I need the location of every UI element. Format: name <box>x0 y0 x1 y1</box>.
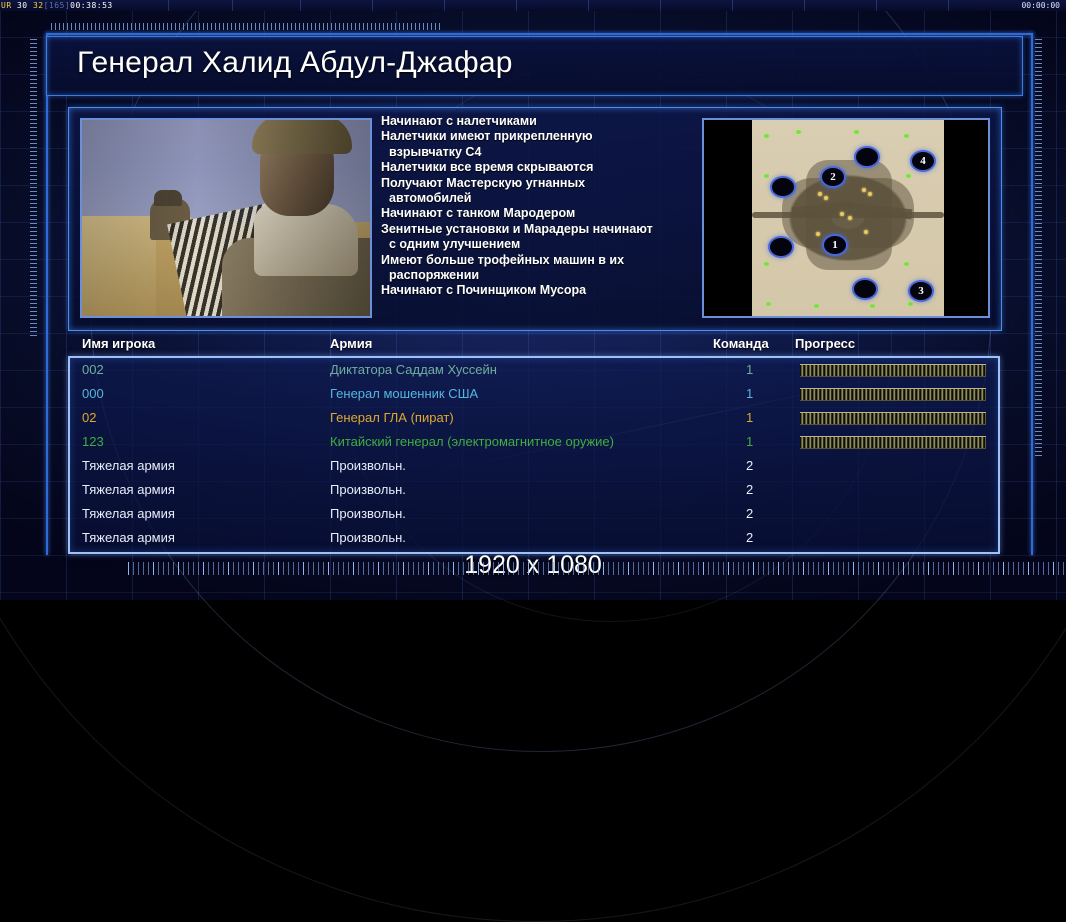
ability-line: Имеют больше трофейных машин в их <box>381 253 699 268</box>
ability-line: с одним улучшением <box>381 237 699 252</box>
ability-line: Начинают с налетчиками <box>381 114 699 129</box>
frame-ruler-left <box>30 39 37 339</box>
game-clock: 00:00:00 <box>1021 0 1060 11</box>
player-name: 000 <box>82 382 104 406</box>
column-header-team: Команда <box>713 336 769 351</box>
map-start-position-empty[interactable] <box>854 280 876 298</box>
progress-bar <box>800 364 986 377</box>
player-name: 002 <box>82 358 104 382</box>
map-start-position-1[interactable]: 1 <box>824 236 846 254</box>
ability-line: взрывчатку С4 <box>381 145 699 160</box>
table-row[interactable]: 000Генерал мошенник США1 <box>70 382 998 406</box>
ability-line: Начинают с танком Мародером <box>381 206 699 221</box>
table-row[interactable]: Тяжелая армияПроизвольн.2 <box>70 526 998 550</box>
table-row[interactable]: Тяжелая армияПроизвольн.2 <box>70 454 998 478</box>
net-value-2: 32 <box>33 1 44 10</box>
column-header-progress: Прогресс <box>795 336 855 351</box>
player-army: Диктатора Саддам Хуссейн <box>330 358 497 382</box>
page-title: Генерал Халид Абдул-Джафар <box>77 46 513 80</box>
player-team: 2 <box>746 502 753 526</box>
progress-bar <box>800 412 986 425</box>
player-team: 1 <box>746 406 753 430</box>
column-header-name: Имя игрока <box>82 336 155 351</box>
player-name: Тяжелая армия <box>82 526 175 550</box>
map-start-position-2[interactable]: 2 <box>822 168 844 186</box>
player-army: Генерал ГЛА (пират) <box>330 406 454 430</box>
player-name: 02 <box>82 406 96 430</box>
network-stats: UR 30 32[165]00:38:53 <box>1 0 113 11</box>
player-army: Произвольн. <box>330 478 406 502</box>
table-row[interactable]: 002Диктатора Саддам Хуссейн1 <box>70 358 998 382</box>
progress-bar <box>800 388 986 401</box>
column-header-army: Армия <box>330 336 372 351</box>
player-name: Тяжелая армия <box>82 478 175 502</box>
player-army: Китайский генерал (электромагнитное оруж… <box>330 430 614 454</box>
net-elapsed: 00:38:53 <box>70 1 113 10</box>
table-row[interactable]: 02Генерал ГЛА (пират)1 <box>70 406 998 430</box>
player-team: 2 <box>746 526 753 550</box>
table-row[interactable]: 123Китайский генерал (электромагнитное о… <box>70 430 998 454</box>
player-table-header: Имя игрока Армия Команда Прогресс <box>68 336 1000 356</box>
player-team: 1 <box>746 382 753 406</box>
player-list[interactable]: 002Диктатора Саддам Хуссейн1000Генерал м… <box>68 356 1000 554</box>
ability-line: Налетчики все время скрываются <box>381 160 699 175</box>
title-panel: Генерал Халид Абдул-Джафар <box>46 36 1023 96</box>
ability-line: распоряжении <box>381 268 699 283</box>
player-army: Произвольн. <box>330 502 406 526</box>
player-team: 1 <box>746 430 753 454</box>
player-team: 2 <box>746 478 753 502</box>
ability-line: Налетчики имеют прикрепленную <box>381 129 699 144</box>
general-ability-list: Начинают с налетчикамиНалетчики имеют пр… <box>381 114 699 299</box>
general-info-panel: Начинают с налетчикамиНалетчики имеют пр… <box>68 107 1002 331</box>
player-team: 1 <box>746 358 753 382</box>
ability-line: Получают Мастерскую угнанных <box>381 176 699 191</box>
player-name: Тяжелая армия <box>82 502 175 526</box>
player-army: Генерал мошенник США <box>330 382 478 406</box>
frame-ruler-right <box>1035 39 1042 459</box>
frame-ruler-top <box>51 23 441 30</box>
ability-line: автомобилей <box>381 191 699 206</box>
player-army: Произвольн. <box>330 454 406 478</box>
net-value-1: 30 <box>17 1 28 10</box>
map-preview: 4213 <box>702 118 990 318</box>
table-row[interactable]: Тяжелая армияПроизвольн.2 <box>70 478 998 502</box>
map-start-position-3[interactable]: 3 <box>910 282 932 300</box>
map-start-position-empty[interactable] <box>772 178 794 196</box>
player-army: Произвольн. <box>330 526 406 550</box>
net-prefix: UR <box>1 1 12 10</box>
map-image: 4213 <box>752 120 944 316</box>
player-name: Тяжелая армия <box>82 454 175 478</box>
general-portrait <box>80 118 372 318</box>
frame-ruler-bottom <box>128 562 1066 575</box>
ability-line: Зенитные установки и Марадеры начинают <box>381 222 699 237</box>
map-start-position-4[interactable]: 4 <box>912 152 934 170</box>
hud-top-bar: UR 30 32[165]00:38:53 00:00:00 <box>0 0 1066 11</box>
net-ping: [165] <box>44 1 71 10</box>
player-name: 123 <box>82 430 104 454</box>
table-row[interactable]: Тяжелая армияПроизвольн.2 <box>70 502 998 526</box>
progress-bar <box>800 436 986 449</box>
map-start-position-empty[interactable] <box>856 148 878 166</box>
player-team: 2 <box>746 454 753 478</box>
map-start-position-empty[interactable] <box>770 238 792 256</box>
ability-line: Начинают с Починщиком Мусора <box>381 283 699 298</box>
